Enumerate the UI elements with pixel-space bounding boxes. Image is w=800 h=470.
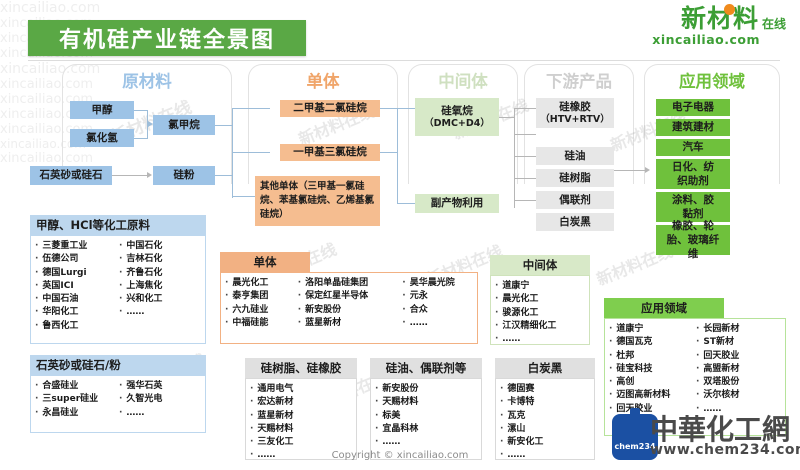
node-silicon-powder[interactable]: 硅粉	[153, 166, 215, 185]
panel-column: 昊华晨光院 元永 合众 ……	[402, 278, 473, 339]
list-item[interactable]: 上海焦化	[119, 281, 201, 292]
list-item[interactable]: 漯山	[500, 424, 590, 435]
list-item[interactable]: 硅宝科技	[609, 364, 694, 375]
list-item[interactable]: 蓝星新材	[250, 411, 352, 422]
panel-oil-suppliers: 硅油、偶联剂等 新安股份 天赐材料 标美 宜晶科林 ……	[370, 358, 482, 460]
list-item[interactable]: 晨光化工	[225, 278, 296, 289]
node-label: 硅树脂	[559, 171, 591, 185]
lane-label-monomer: 单体	[248, 68, 398, 92]
panel-intermediate-suppliers: 中间体 道康宁 晨光化工 骏源化工 江汉精细化工 ……	[490, 255, 590, 345]
node-silicone-resin[interactable]: 硅树脂	[536, 169, 614, 187]
list-item[interactable]: ……	[375, 437, 477, 448]
list-item[interactable]: 强华石英	[119, 381, 201, 392]
connector	[514, 108, 536, 109]
connector	[380, 152, 398, 153]
panel-column: 德固赛 卡博特 瓦克 漯山 新安化工 ……	[500, 384, 590, 455]
panel-column: 道康宁 晨光化工 骏源化工 江汉精细化工 ……	[495, 281, 585, 340]
list-item[interactable]: 宏达新材	[250, 397, 352, 408]
connector	[514, 200, 536, 201]
node-label: 甲醇	[92, 103, 113, 117]
panel-title: 应用领域	[604, 298, 724, 318]
list-item[interactable]: 三super硅业	[35, 394, 117, 405]
list-item[interactable]: 卡博特	[500, 397, 590, 408]
list-item[interactable]: 晨光化工	[495, 294, 585, 305]
node-app-electronics[interactable]: 电子电器	[656, 99, 730, 116]
panel-column: 合盛硅业 三super硅业 永昌硅业	[35, 381, 117, 428]
panel-methanol-suppliers: 甲醇、HCl等化工原料 三菱重工业 伍德公司 德国Lurgi 英国ICI 中国石…	[30, 215, 206, 344]
lane-label-intermediate: 中间体	[408, 68, 518, 92]
panel-column: 中国石化 吉林石化 齐鲁石化 上海焦化 兴和化工 ……	[119, 241, 201, 339]
node-label: 橡胶、轮胎、玻璃纤维	[662, 219, 724, 262]
list-item[interactable]: 中国石化	[119, 241, 201, 252]
arrow-icon	[645, 167, 650, 173]
connector	[215, 175, 233, 176]
connector	[134, 138, 148, 139]
connector	[397, 203, 417, 204]
node-label: 涂料、胶黏剂	[667, 193, 719, 221]
node-other-monomers[interactable]: 其他单体（三甲基一氯硅烷、苯基氯硅烷、乙烯基氯硅烷）	[255, 176, 380, 226]
list-item[interactable]: 合盛硅业	[35, 381, 117, 392]
node-app-rubber[interactable]: 橡胶、轮胎、玻璃纤维	[656, 225, 730, 255]
list-item[interactable]: 吉林石化	[119, 254, 201, 265]
connector	[499, 117, 515, 118]
list-item[interactable]: 回天胶业	[696, 351, 781, 362]
list-item[interactable]: 鲁西化工	[35, 321, 117, 332]
connector	[112, 175, 148, 176]
node-label: 电子电器	[672, 100, 714, 114]
panel-column: 洛阳单晶硅集团 保定红星半导体 新安股份 蓝星新材	[298, 278, 401, 339]
list-item[interactable]: 中国石油	[35, 294, 117, 305]
lane-label-downstream: 下游产品	[524, 68, 634, 92]
connector	[514, 178, 536, 179]
footer-copyright: Copyright © xincailiao.com	[0, 450, 800, 461]
list-item[interactable]: 英国ICI	[35, 281, 117, 292]
list-item[interactable]: 道康宁	[609, 324, 694, 335]
node-label: 副产物利用	[431, 196, 484, 210]
node-label: 一甲基三氯硅烷	[293, 145, 367, 159]
node-silicone-oil[interactable]: 硅油	[536, 147, 614, 165]
panel-quartz-suppliers: 石英砂或硅石/粉 合盛硅业 三super硅业 永昌硅业 强华石英 久智光电 ……	[30, 355, 206, 433]
connector	[514, 156, 536, 157]
panel-column: 强华石英 久智光电 ……	[119, 381, 201, 428]
node-label: 硅粉	[174, 168, 195, 182]
node-app-coating[interactable]: 涂料、胶黏剂	[656, 192, 730, 222]
node-label: 氯甲烷	[168, 118, 200, 132]
lane-label-application: 应用领域	[644, 68, 780, 92]
node-siloxane[interactable]: 硅氧烷 （DMC+D4）	[415, 98, 499, 136]
list-item[interactable]: 三菱重工业	[35, 241, 117, 252]
node-label: 氯化氢	[86, 131, 118, 145]
node-dimethyldichlorosilane[interactable]: 二甲基二氯硅烷	[280, 100, 380, 117]
list-item[interactable]: 江汉精细化工	[495, 321, 585, 332]
infographic-root: 有机硅产业链全景图 新材料 在线 xincailiao.com 原材料 单体 中…	[0, 0, 800, 470]
list-item[interactable]: 瓦克	[500, 411, 590, 422]
header-divider	[28, 60, 780, 61]
list-item[interactable]: 德国Lurgi	[35, 268, 117, 279]
panel-title: 石英砂或硅石/粉	[30, 355, 206, 375]
node-quartz[interactable]: 石英砂或硅石	[30, 166, 112, 185]
connector	[232, 152, 270, 153]
connector	[397, 108, 398, 204]
logo-main-text: 新材料	[681, 6, 759, 31]
list-item[interactable]: 迈图高新材料	[609, 390, 694, 401]
node-app-textile[interactable]: 日化、纺织助剂	[656, 159, 730, 189]
node-label: 建筑建材	[672, 120, 714, 134]
list-item[interactable]: 新安股份	[298, 305, 401, 316]
node-hcl[interactable]: 氯化氢	[70, 129, 134, 147]
connector	[232, 108, 270, 109]
list-item[interactable]: 元永	[402, 291, 473, 302]
panel-carbon-suppliers: 白炭黑 德固赛 卡博特 瓦克 漯山 新安化工 ……	[495, 358, 595, 460]
node-sublabel: （DMC+D4）	[424, 118, 490, 131]
list-item[interactable]: 兴和化工	[119, 294, 201, 305]
node-silicone-rubber[interactable]: 硅橡胶 （HTV+RTV）	[536, 98, 614, 128]
node-label: 石英砂或硅石	[40, 168, 103, 182]
page-title-banner: 有机硅产业链全景图	[28, 20, 306, 56]
list-item[interactable]: 久智光电	[119, 394, 201, 405]
list-item[interactable]: 沃尔核材	[696, 390, 781, 401]
list-item[interactable]: 德固赛	[500, 384, 590, 395]
node-chloromethane[interactable]: 氯甲烷	[153, 115, 215, 135]
node-label: 二甲基二氯硅烷	[293, 101, 367, 115]
logo-sub-text: 在线	[762, 18, 786, 31]
list-item[interactable]: 齐鲁石化	[119, 268, 201, 279]
connector	[614, 170, 648, 171]
node-byproduct[interactable]: 副产物利用	[415, 194, 499, 213]
node-label: 日化、纺织助剂	[667, 160, 719, 188]
list-item[interactable]: ST新材	[696, 337, 781, 348]
node-app-automobile[interactable]: 汽车	[656, 139, 730, 156]
node-label: 白炭黑	[559, 215, 591, 229]
list-item[interactable]: ……	[402, 318, 473, 329]
panel-column: 新安股份 天赐材料 标美 宜晶科林 ……	[375, 384, 477, 455]
lane-label-raw: 原材料	[62, 68, 232, 92]
list-item[interactable]: 保定红星半导体	[298, 291, 401, 302]
list-item[interactable]: 天赐材料	[250, 424, 352, 435]
node-sublabel: （HTV+RTV）	[540, 114, 609, 127]
list-item[interactable]: 泰亨集团	[225, 291, 296, 302]
list-item[interactable]: 天赐材料	[375, 397, 477, 408]
node-white-carbon[interactable]: 白炭黑	[536, 213, 614, 231]
list-item[interactable]: 合众	[402, 305, 473, 316]
page-title: 有机硅产业链全景图	[59, 22, 275, 54]
node-app-construction[interactable]: 建筑建材	[656, 119, 730, 136]
list-item[interactable]: 宜晶科林	[375, 424, 477, 435]
node-label: 硅油	[565, 149, 586, 163]
panel-title: 白炭黑	[495, 358, 595, 378]
panel-title: 甲醇、HCl等化工原料	[30, 215, 206, 235]
panel-title: 中间体	[490, 255, 590, 275]
list-item[interactable]: 中福硅能	[225, 318, 296, 329]
list-item[interactable]: 骏源化工	[495, 308, 585, 319]
panel-title: 硅树脂、硅橡胶	[245, 358, 357, 378]
list-item[interactable]: 蓝星新材	[298, 318, 401, 329]
logo-url: xincailiao.com	[606, 32, 786, 47]
list-item[interactable]: 高盟新材	[696, 364, 781, 375]
list-item[interactable]: 通用电气	[250, 384, 352, 395]
arrow-icon	[148, 121, 153, 127]
node-coupling-agent[interactable]: 偶联剂	[536, 191, 614, 209]
node-label: 硅橡胶	[559, 100, 591, 114]
list-item[interactable]: ……	[119, 307, 201, 318]
node-label: 汽车	[683, 140, 704, 154]
panel-column: 三菱重工业 伍德公司 德国Lurgi 英国ICI 中国石油 华阳化工 鲁西化工	[35, 241, 117, 339]
list-item[interactable]: 伍德公司	[35, 254, 117, 265]
list-item[interactable]: 洛阳单晶硅集团	[298, 278, 401, 289]
connector	[134, 110, 148, 111]
list-item[interactable]: 昊华晨光院	[402, 278, 473, 289]
node-label: 其他单体（三甲基一氯硅烷、苯基氯硅烷、乙烯基氯硅烷）	[260, 180, 375, 221]
node-label: 硅氧烷	[441, 104, 473, 118]
list-item[interactable]: 长园新材	[696, 324, 781, 335]
list-item[interactable]: 双塔股份	[696, 377, 781, 388]
list-item[interactable]: ……	[495, 334, 585, 345]
arrow-icon	[147, 172, 152, 178]
list-item[interactable]: 华阳化工	[35, 307, 117, 318]
list-item[interactable]: 永昌硅业	[35, 408, 117, 419]
list-item[interactable]: 新安化工	[500, 437, 590, 448]
panel-column: 通用电气 宏达新材 蓝星新材 天赐材料 三友化工 ……	[250, 384, 352, 455]
list-item[interactable]: 标美	[375, 411, 477, 422]
site-logo[interactable]: 新材料 在线 xincailiao.com	[606, 6, 786, 47]
list-item[interactable]: ……	[119, 408, 201, 419]
list-item[interactable]: 道康宁	[495, 281, 585, 292]
node-methyltrichlorosilane[interactable]: 一甲基三氯硅烷	[280, 144, 380, 161]
panel-column: 晨光化工 泰亨集团 六九硅业 中福硅能	[225, 278, 296, 339]
list-item[interactable]: 高创	[609, 377, 694, 388]
list-item[interactable]: 德国瓦克	[609, 337, 694, 348]
node-label: 偶联剂	[559, 193, 591, 207]
panel-monomer-suppliers: 单体 晨光化工 泰亨集团 六九硅业 中福硅能 洛阳单晶硅集团 保定红星半导体 新…	[220, 252, 478, 344]
list-item[interactable]: 新安股份	[375, 384, 477, 395]
connector	[215, 125, 233, 126]
connector	[514, 134, 536, 135]
list-item[interactable]: 六九硅业	[225, 305, 296, 316]
orange-dot-icon	[724, 4, 735, 15]
list-item[interactable]: 杜邦	[609, 351, 694, 362]
panel-title: 硅油、偶联剂等	[370, 358, 482, 378]
node-methanol[interactable]: 甲醇	[70, 101, 134, 119]
list-item[interactable]: 三友化工	[250, 437, 352, 448]
panel-title: 单体	[220, 252, 310, 272]
connector	[514, 108, 515, 208]
panel-resin-suppliers: 硅树脂、硅橡胶 通用电气 宏达新材 蓝星新材 天赐材料 三友化工 ……	[245, 358, 357, 460]
